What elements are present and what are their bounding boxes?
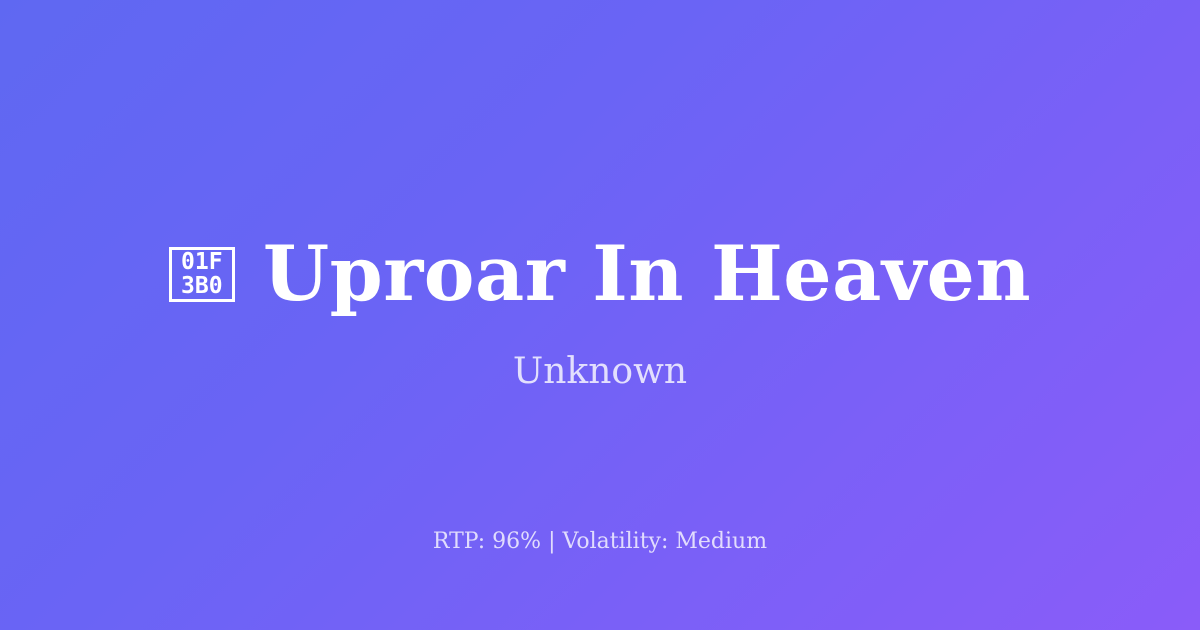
- slot-machine-icon: 01F 3B0: [169, 247, 235, 302]
- slot-machine-icon-codepoint-low: 3B0: [181, 274, 223, 298]
- game-provider-subtitle: Unknown: [513, 350, 687, 394]
- game-stats-line: RTP: 96% | Volatility: Medium: [0, 528, 1200, 556]
- title-row: 01F 3B0 Uproar In Heaven: [169, 228, 1031, 320]
- game-title: Uproar In Heaven: [263, 231, 1031, 317]
- slot-machine-icon-codepoint-high: 01F: [181, 250, 223, 274]
- hero-block: 01F 3B0 Uproar In Heaven Unknown: [0, 228, 1200, 394]
- open-graph-share-card: 01F 3B0 Uproar In Heaven Unknown RTP: 96…: [0, 0, 1200, 630]
